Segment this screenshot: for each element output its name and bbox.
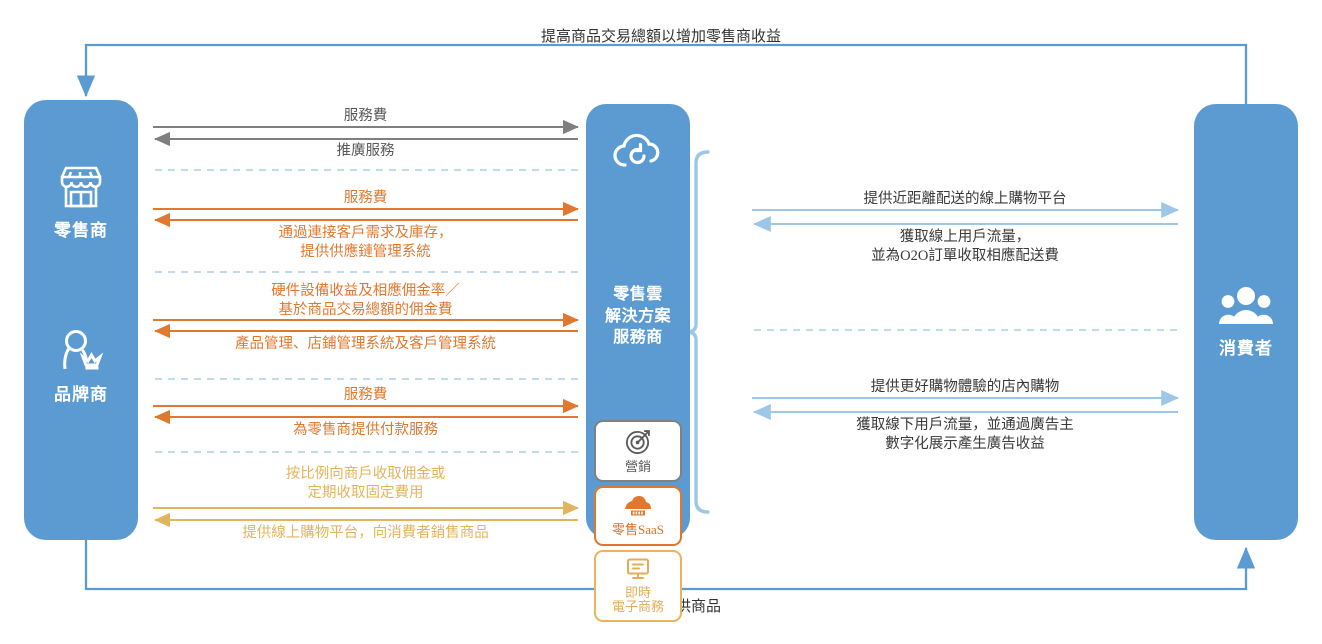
- left-pillar: 零售商 品牌商: [24, 100, 138, 540]
- flow-label-online-platform-below: 提供線上購物平台，向消費者銷售商品: [153, 524, 578, 543]
- storefront-icon: [57, 164, 105, 215]
- flow-label-o2o-below: 獲取線上用戶流量， 並為O2O訂單收取相應配送費: [752, 228, 1178, 265]
- service-card-instant-ecommerce[interactable]: 即時 電子商務: [594, 550, 682, 622]
- node-retailer[interactable]: 零售商: [24, 164, 138, 241]
- cloud-sync-icon: [611, 132, 665, 179]
- center-title: 零售雲 解決方案 服務商: [586, 284, 690, 349]
- flow-label-payment-below: 為零售商提供付款服務: [153, 421, 578, 440]
- flow-label-commission-below: 產品管理、店鋪管理系統及客戶管理系統: [153, 335, 578, 354]
- service-card-label-instant-ecommerce: 即時 電子商務: [612, 586, 664, 615]
- node-label-retailer: 零售商: [54, 221, 108, 241]
- flow-label-instore-below: 獲取線下用戶流量，並通過廣告主 數字化展示產生廣告收益: [752, 416, 1178, 453]
- diagram-canvas: 提高商品交易總額以增加零售商收益 為消費者提供商品 零售商: [0, 0, 1322, 644]
- flow-label-commission-above: 硬件設備收益及相應佣金率／ 基於商品交易總額的佣金費: [153, 282, 578, 319]
- people-group-icon: [1219, 284, 1273, 333]
- service-card-label-marketing: 營銷: [625, 460, 651, 475]
- service-card-label-retail-saas: 零售SaaS: [612, 523, 664, 538]
- flow-label-gray-service-below: 推廣服務: [153, 142, 578, 161]
- service-card-retail-saas[interactable]: 零售SaaS: [594, 486, 682, 546]
- flow-label-instore-above: 提供更好購物體驗的店內購物: [752, 378, 1178, 397]
- node-brand-owner[interactable]: 品牌商: [24, 328, 138, 405]
- target-dial-icon: [625, 428, 652, 459]
- flow-label-supply-chain-below: 通過連接客戶需求及庫存， 提供供應鏈管理系統: [153, 224, 578, 261]
- flow-label-o2o-above: 提供近距離配送的線上購物平台: [752, 190, 1178, 209]
- node-consumer[interactable]: 消費者: [1194, 284, 1298, 359]
- service-card-marketing[interactable]: 營銷: [594, 420, 682, 482]
- flow-label-online-platform-above: 按比例向商戶收取佣金或 定期收取固定費用: [153, 465, 578, 502]
- brand-person-crown-icon: [58, 328, 104, 379]
- center-pillar: 零售雲 解決方案 服務商 營銷: [586, 104, 690, 538]
- top-caption: 提高商品交易總額以增加零售商收益: [361, 25, 961, 46]
- saas-cloud-icon: [623, 494, 653, 522]
- flow-label-gray-service-above: 服務費: [153, 107, 578, 126]
- node-label-brand-owner: 品牌商: [54, 385, 108, 405]
- node-label-consumer: 消費者: [1219, 339, 1273, 359]
- flow-label-supply-chain-above: 服務費: [153, 189, 578, 208]
- monitor-icon: [625, 557, 651, 585]
- flow-label-payment-above: 服務費: [153, 386, 578, 405]
- node-retail-cloud-provider[interactable]: [586, 132, 690, 179]
- right-pillar: 消費者: [1194, 104, 1298, 540]
